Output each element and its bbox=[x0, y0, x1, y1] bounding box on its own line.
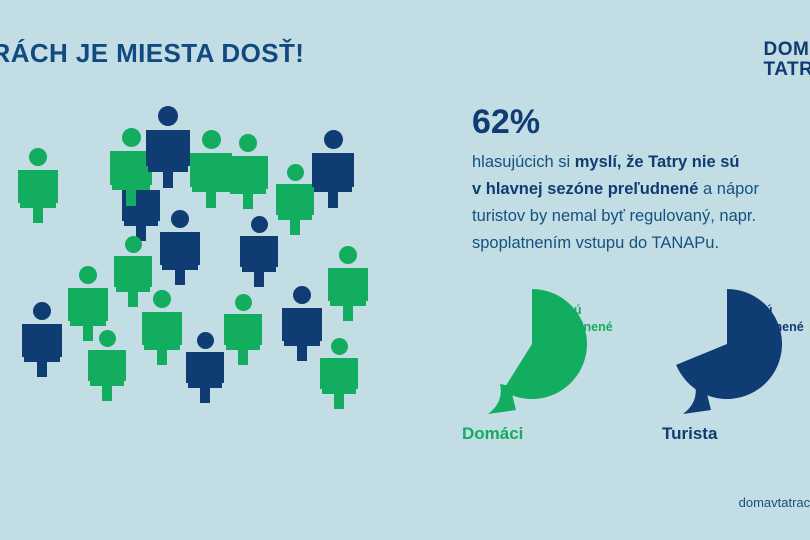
chart-domaci-title: Domáci bbox=[462, 424, 523, 444]
chart-turista-label-line2: preľudnené bbox=[735, 319, 804, 336]
chart-turista-value: 68,8% bbox=[735, 335, 804, 352]
person-head bbox=[293, 286, 311, 304]
logo-line-2: TATRÁCH bbox=[764, 60, 810, 80]
chart-turista-title: Turista bbox=[662, 424, 717, 444]
person-icon bbox=[312, 130, 354, 187]
person-head bbox=[251, 216, 268, 233]
logo-line-1: DOMA V bbox=[764, 40, 810, 60]
copy-line-1: hlasujúcich si myslí, že Tatry nie sú bbox=[472, 149, 810, 176]
person-body bbox=[88, 350, 126, 381]
copy-block: 62% hlasujúcich si myslí, že Tatry nie s… bbox=[472, 104, 810, 256]
person-head bbox=[79, 266, 97, 284]
person-icon bbox=[320, 338, 358, 389]
person-icon bbox=[224, 294, 262, 345]
person-body bbox=[312, 153, 354, 187]
person-body bbox=[160, 232, 200, 265]
pictogram-crowd bbox=[0, 88, 420, 438]
person-icon bbox=[228, 134, 268, 189]
person-body bbox=[224, 314, 262, 345]
person-head bbox=[153, 290, 171, 308]
person-head bbox=[331, 338, 348, 355]
chart-domaci: Nie sú preľudnené 58,9% Domáci bbox=[470, 288, 600, 416]
person-body bbox=[276, 184, 314, 215]
person-body bbox=[114, 256, 152, 287]
person-head bbox=[239, 134, 257, 152]
person-icon bbox=[22, 302, 62, 357]
infographic-canvas: ATRÁCH JE MIESTA DOSŤ! DOMA V TATRÁCH 62… bbox=[0, 0, 810, 540]
copy-line-4: spoplatnením vstupu do TANAPu. bbox=[472, 230, 810, 257]
person-head bbox=[197, 332, 214, 349]
person-head bbox=[339, 246, 357, 264]
person-icon bbox=[114, 236, 152, 287]
copy-line-1-normal: hlasujúcich si bbox=[472, 153, 575, 171]
person-icon bbox=[88, 330, 126, 381]
copy-line-2: v hlavnej sezóne preľudnené a nápor bbox=[472, 176, 810, 203]
person-body bbox=[240, 236, 278, 267]
person-body bbox=[282, 308, 322, 341]
person-head bbox=[158, 106, 178, 126]
person-body bbox=[228, 156, 268, 189]
person-icon bbox=[68, 266, 108, 321]
person-head bbox=[125, 236, 142, 253]
person-icon bbox=[282, 286, 322, 341]
chart-domaci-label: Nie sú preľudnené 58,9% bbox=[544, 302, 613, 352]
person-icon bbox=[240, 216, 278, 267]
person-icon bbox=[186, 332, 224, 383]
person-body bbox=[186, 352, 224, 383]
chart-turista-label: Nie sú preľudnené 68,8% bbox=[735, 302, 804, 352]
person-head bbox=[287, 164, 304, 181]
person-body bbox=[22, 324, 62, 357]
copy-line-3: turistov by nemal byť regulovaný, napr. bbox=[472, 203, 810, 230]
person-icon bbox=[142, 290, 182, 345]
person-head bbox=[29, 148, 47, 166]
person-head bbox=[324, 130, 343, 149]
footer-url: domavtatrach.sk bbox=[739, 495, 810, 510]
person-body bbox=[18, 170, 58, 203]
copy-line-1-bold: myslí, že Tatry nie sú bbox=[575, 153, 740, 171]
person-icon bbox=[160, 210, 200, 265]
person-head bbox=[171, 210, 189, 228]
copy-line-2-normal: a nápor bbox=[698, 180, 759, 198]
person-head bbox=[202, 130, 221, 149]
person-body bbox=[142, 312, 182, 345]
chart-turista: Nie sú preľudnené 68,8% Turista bbox=[665, 288, 795, 416]
chart-domaci-label-line2: preľudnené bbox=[544, 319, 613, 336]
person-head bbox=[235, 294, 252, 311]
person-body bbox=[68, 288, 108, 321]
person-icon bbox=[18, 148, 58, 203]
person-head bbox=[99, 330, 116, 347]
person-body bbox=[146, 130, 190, 166]
person-icon bbox=[276, 164, 314, 215]
person-icon bbox=[190, 130, 232, 187]
page-title: ATRÁCH JE MIESTA DOSŤ! bbox=[0, 38, 304, 69]
person-body bbox=[320, 358, 358, 389]
headline-percent: 62% bbox=[472, 104, 810, 141]
chart-domaci-value: 58,9% bbox=[544, 335, 613, 352]
chart-domaci-label-line1: Nie sú bbox=[544, 302, 613, 319]
brand-logo: DOMA V TATRÁCH bbox=[764, 40, 810, 80]
person-body bbox=[328, 268, 368, 301]
copy-line-2-bold: v hlavnej sezóne preľudnené bbox=[472, 180, 698, 198]
chart-turista-label-line1: Nie sú bbox=[735, 302, 804, 319]
person-icon bbox=[328, 246, 368, 301]
person-head bbox=[33, 302, 51, 320]
person-icon bbox=[146, 106, 190, 166]
person-body bbox=[190, 153, 232, 187]
person-head bbox=[122, 128, 141, 147]
